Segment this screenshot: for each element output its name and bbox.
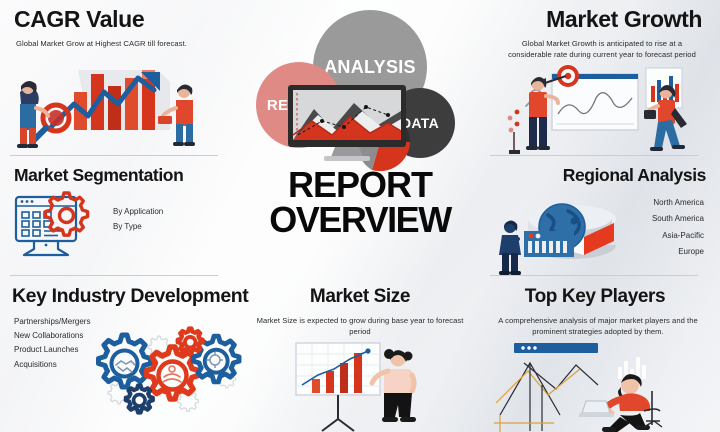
- hero-graphic: ANALYSIS REPORT DATA: [240, 0, 480, 275]
- market-growth-subtitle: Global Market Growth is anticipated to r…: [502, 38, 702, 61]
- section-divider: [10, 275, 218, 276]
- desktop-monitor-area-chart-icon: [288, 85, 416, 163]
- market-size-subtitle: Market Size is expected to grow during b…: [254, 315, 466, 338]
- list-item: New Collaborations: [14, 329, 90, 343]
- section-market-segmentation[interactable]: Market Segmentation: [0, 155, 240, 275]
- monitor-gear-settings-icon: [12, 193, 104, 265]
- top-key-players-subtitle: A comprehensive analysis of major market…: [488, 315, 708, 338]
- section-key-industry-development[interactable]: Key Industry Development Partnerships/Me…: [0, 275, 240, 432]
- section-divider: [490, 155, 698, 156]
- section-market-size[interactable]: Market Size Market Size is expected to g…: [240, 275, 480, 432]
- top-key-players-title: Top Key Players: [480, 287, 710, 306]
- globe-server-analyst-icon: [488, 193, 638, 275]
- bar-chart-arrow-magnifier-people-icon: [8, 52, 228, 148]
- list-item: By Type: [113, 220, 163, 235]
- circle-analysis-label: ANALYSIS: [324, 57, 416, 78]
- list-item: North America: [652, 195, 704, 211]
- section-cagr-value[interactable]: CAGR Value Global Market Grow at Highest…: [0, 0, 240, 155]
- page-title-line1: REPORT: [232, 168, 488, 203]
- section-divider: [10, 155, 218, 156]
- list-item: Asia-Pacific: [652, 228, 704, 244]
- regional-analysis-list: North America South America Asia-Pacific…: [652, 195, 704, 261]
- interlocking-gears-icon: [86, 321, 244, 416]
- page-title-line2: OVERVIEW: [232, 203, 488, 238]
- list-item: Europe: [652, 244, 704, 260]
- list-item: Product Launches: [14, 343, 90, 357]
- section-divider: [490, 275, 698, 276]
- flipchart-bar-chart-presenter-icon: [278, 341, 442, 431]
- market-growth-title: Market Growth: [546, 8, 702, 31]
- section-top-key-players[interactable]: Top Key Players A comprehensive analysis…: [480, 275, 720, 432]
- cagr-value-subtitle: Global Market Grow at Highest CAGR till …: [16, 38, 187, 49]
- key-industry-development-list: Partnerships/Mergers New Collaborations …: [14, 315, 90, 372]
- regional-analysis-title: Regional Analysis: [563, 167, 706, 185]
- market-size-title: Market Size: [240, 287, 480, 306]
- list-item: South America: [652, 211, 704, 227]
- section-regional-analysis[interactable]: Regional Analysis: [480, 155, 720, 275]
- market-segmentation-list: By Application By Type: [113, 205, 163, 235]
- person-laptop-line-chart-icon: [494, 343, 704, 432]
- list-item: Partnerships/Mergers: [14, 315, 90, 329]
- list-item: By Application: [113, 205, 163, 220]
- cagr-value-title: CAGR Value: [14, 8, 144, 31]
- market-segmentation-title: Market Segmentation: [14, 167, 183, 185]
- presentation-board-target-people-icon: [500, 62, 712, 154]
- key-industry-development-title: Key Industry Development: [12, 287, 248, 307]
- list-item: Acquisitions: [14, 358, 90, 372]
- section-market-growth[interactable]: Market Growth Global Market Growth is an…: [480, 0, 720, 155]
- page-title: REPORT OVERVIEW: [232, 168, 488, 238]
